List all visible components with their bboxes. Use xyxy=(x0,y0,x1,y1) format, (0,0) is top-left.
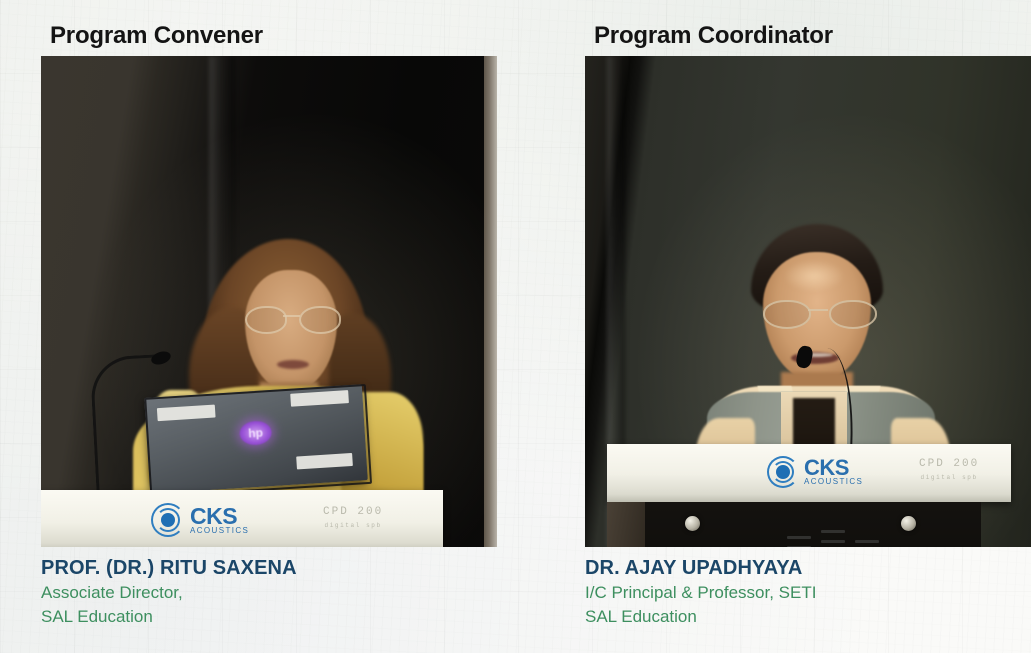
podium-model-subtext: digital spb xyxy=(323,521,383,530)
cks-circle-icon xyxy=(767,456,799,488)
podium-model-label: CPD 200 digital spb xyxy=(919,456,979,482)
cks-brand-sub: ACOUSTICS xyxy=(190,527,249,534)
cks-acoustics-logo: CKS ACOUSTICS xyxy=(767,456,863,488)
person-title: Associate Director, xyxy=(41,581,511,605)
podium-knob xyxy=(901,516,916,531)
cks-brand-name: CKS xyxy=(804,458,863,478)
eyeglasses-icon xyxy=(243,306,341,332)
profile-card-convener: Program Convener xyxy=(41,0,543,653)
person-title: I/C Principal & Professor, SETI xyxy=(585,581,1031,605)
caption-coordinator: DR. AJAY UPADHYAYA I/C Principal & Profe… xyxy=(585,557,1031,629)
laptop xyxy=(144,384,368,493)
podium-model-text: CPD 200 xyxy=(323,504,383,521)
podium-model-text: CPD 200 xyxy=(919,456,979,473)
photo-coordinator: CKS ACOUSTICS CPD 200 digital spb xyxy=(585,56,1031,547)
person-name: PROF. (DR.) RITU SAXENA xyxy=(41,557,511,581)
person-name: DR. AJAY UPADHYAYA xyxy=(585,557,1031,581)
podium-model-label: CPD 200 digital spb xyxy=(323,504,383,530)
cks-brand-sub: ACOUSTICS xyxy=(804,478,863,485)
cks-brand-name: CKS xyxy=(190,506,249,527)
podium-vent-grille xyxy=(719,530,919,547)
role-header-coordinator: Program Coordinator xyxy=(594,22,833,50)
photo-convener: CKS ACOUSTICS CPD 200 digital spb xyxy=(41,56,497,547)
podium-side-panel xyxy=(607,502,645,547)
podium-body xyxy=(641,502,981,547)
eyeglasses-icon xyxy=(761,300,877,326)
profile-card-coordinator: Program Coordinator xyxy=(585,0,1031,653)
speaker-forehead-highlight xyxy=(783,260,845,292)
podium-knob xyxy=(685,516,700,531)
hp-logo-icon xyxy=(239,420,272,446)
podium-top-panel: CKS ACOUSTICS CPD 200 digital spb xyxy=(41,490,443,547)
cks-circle-icon xyxy=(151,503,185,537)
person-organization: SAL Education xyxy=(41,605,511,629)
caption-convener: PROF. (DR.) RITU SAXENA Associate Direct… xyxy=(41,557,511,629)
profiles-container: Program Convener xyxy=(0,0,1031,653)
cks-acoustics-logo: CKS ACOUSTICS xyxy=(151,503,249,537)
podium-model-subtext: digital spb xyxy=(919,473,979,482)
podium-top-panel: CKS ACOUSTICS CPD 200 digital spb xyxy=(607,444,1011,502)
role-header-convener: Program Convener xyxy=(50,22,263,50)
person-organization: SAL Education xyxy=(585,605,1031,629)
speaker-mouth xyxy=(277,360,309,369)
